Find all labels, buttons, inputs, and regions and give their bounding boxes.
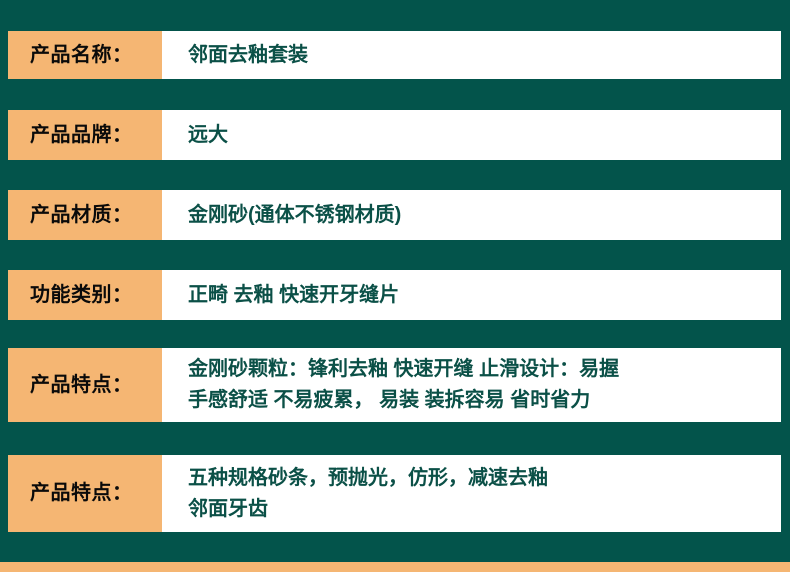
spec-value-features-primary: 金刚砂颗粒：锋利去釉 快速开缝 止滑设计：易握 手感舒适 不易疲累， 易装 装拆… [162, 348, 781, 422]
spec-label-function-type: 功能类别： [8, 270, 162, 320]
spec-label-product-name: 产品名称： [8, 31, 162, 79]
spec-row-material: 产品材质： 金刚砂(通体不锈钢材质) [8, 190, 781, 240]
spec-row-function-type: 功能类别： 正畸 去釉 快速开牙缝片 [8, 270, 781, 320]
spec-value-features-secondary: 五种规格砂条，预抛光，仿形，减速去釉 邻面牙齿 [162, 455, 781, 532]
spec-label-material: 产品材质： [8, 190, 162, 240]
spec-label-features-secondary: 产品特点： [8, 455, 162, 532]
spec-value-product-name: 邻面去釉套装 [162, 31, 781, 79]
spec-row-features-secondary: 产品特点： 五种规格砂条，预抛光，仿形，减速去釉 邻面牙齿 [8, 455, 781, 532]
spec-value-product-brand: 远大 [162, 110, 781, 160]
spec-label-features-primary: 产品特点： [8, 348, 162, 422]
spec-value-function-type: 正畸 去釉 快速开牙缝片 [162, 270, 781, 320]
spec-value-material: 金刚砂(通体不锈钢材质) [162, 190, 781, 240]
bottom-accent-bar [0, 562, 790, 572]
product-spec-sheet: 产品名称： 邻面去釉套装 产品品牌： 远大 产品材质： 金刚砂(通体不锈钢材质)… [0, 0, 790, 572]
spec-row-product-brand: 产品品牌： 远大 [8, 110, 781, 160]
spec-row-product-name: 产品名称： 邻面去釉套装 [8, 31, 781, 79]
spec-row-features-primary: 产品特点： 金刚砂颗粒：锋利去釉 快速开缝 止滑设计：易握 手感舒适 不易疲累，… [8, 348, 781, 422]
spec-label-product-brand: 产品品牌： [8, 110, 162, 160]
